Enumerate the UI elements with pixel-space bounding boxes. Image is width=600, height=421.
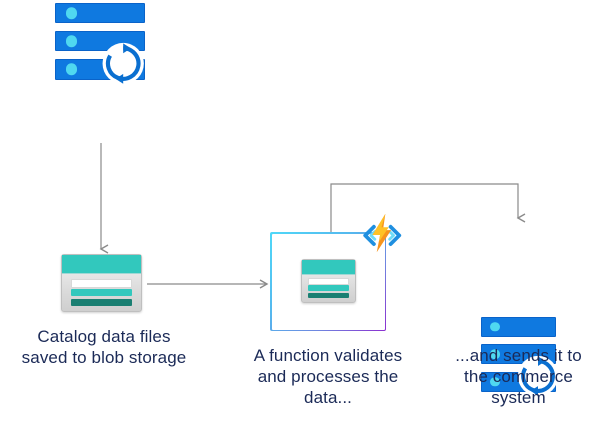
server-status-dot <box>66 7 77 18</box>
caption-line: and processes the <box>238 366 418 387</box>
storage-row-dark-teal <box>71 299 131 306</box>
caption-blob-storage: Catalog data files saved to blob storage <box>4 326 204 368</box>
caption-line: system <box>446 387 591 408</box>
server-status-dot <box>66 64 77 75</box>
refresh-icon <box>98 42 148 85</box>
storage-row-white <box>71 279 131 288</box>
storage-row-dark-teal <box>308 293 348 298</box>
server-bar-top <box>481 317 556 337</box>
server-status-dot <box>490 322 499 331</box>
caption-line: ...and sends it to <box>446 345 591 366</box>
caption-commerce-system: ...and sends it to the commerce system <box>446 345 591 408</box>
caption-line: the commerce <box>446 366 591 387</box>
caption-line: A function validates <box>238 345 418 366</box>
server-bar-top <box>55 3 145 23</box>
function-storage-icon <box>301 259 356 303</box>
caption-line: Catalog data files <box>4 326 204 347</box>
function-lightning-bolt-icon <box>359 211 405 257</box>
source-database-icon <box>55 3 145 80</box>
blob-storage-icon <box>61 254 142 312</box>
storage-header-bar <box>62 255 141 274</box>
diagram-canvas: Catalog data files saved to blob storage… <box>0 0 600 421</box>
storage-row-teal <box>308 285 348 290</box>
storage-header-bar <box>302 260 355 275</box>
caption-line: saved to blob storage <box>4 347 204 368</box>
caption-line: data... <box>238 387 418 408</box>
server-status-dot <box>66 36 77 47</box>
caption-azure-function: A function validates and processes the d… <box>238 345 418 408</box>
storage-row-white <box>308 278 348 285</box>
storage-row-teal <box>71 289 131 296</box>
